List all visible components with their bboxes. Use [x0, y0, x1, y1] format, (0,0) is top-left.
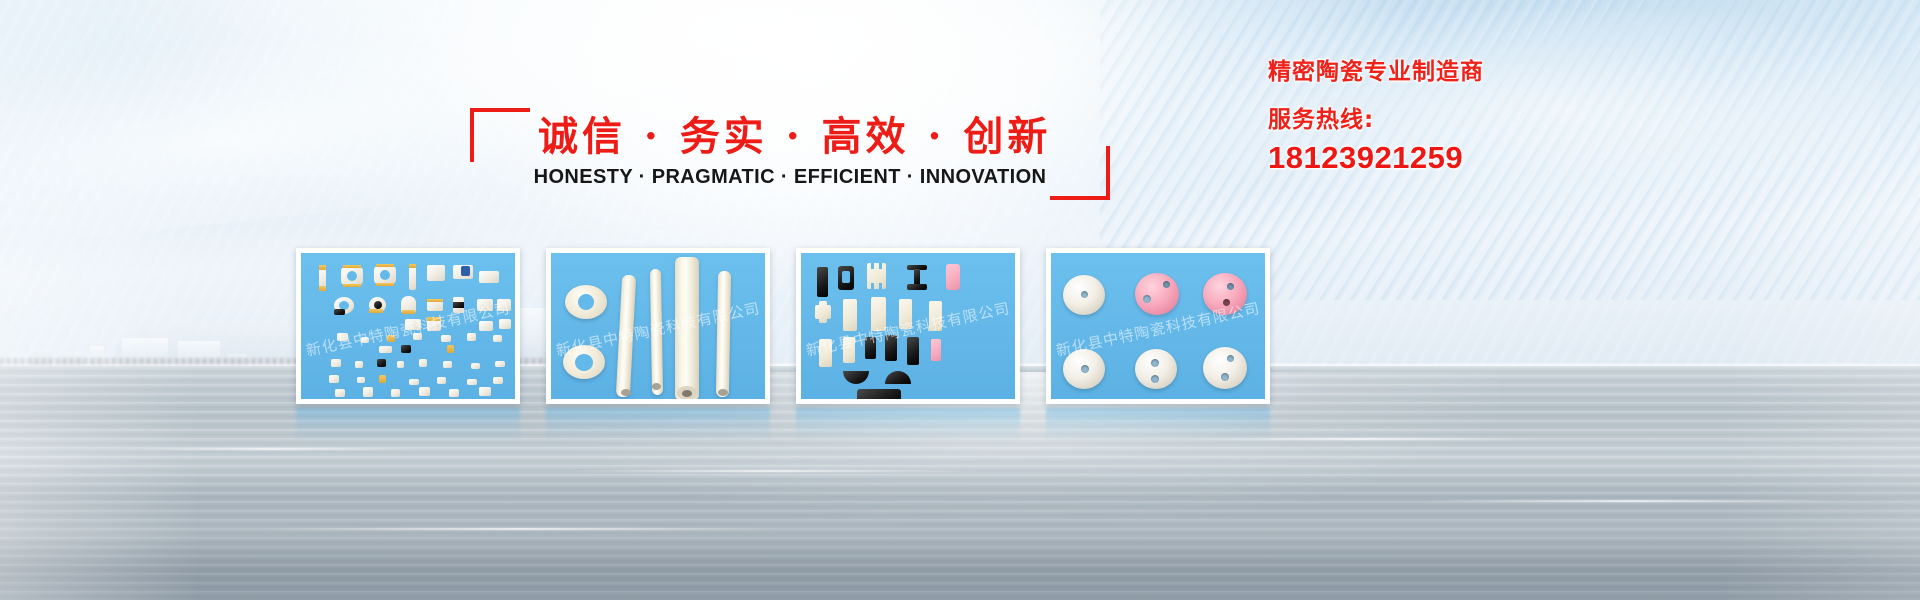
ceramic-part — [405, 319, 421, 330]
slogan-chinese: 诚信 · 务实 · 高效 · 创新 — [538, 104, 1048, 162]
ceramic-part — [355, 361, 363, 368]
ceramic-part-slot — [842, 271, 850, 283]
ceramic-part — [453, 302, 464, 308]
ceramic-part — [391, 389, 400, 397]
hero-banner: 诚信 · 务实 · 高效 · 创新 HONESTY · PRAGMATIC · … — [0, 0, 1920, 600]
contact-block: 精密陶瓷专业制造商 服务热线: 18123921259 — [1268, 52, 1598, 176]
ceramic-part-blue — [461, 266, 470, 276]
ceramic-part — [357, 377, 365, 383]
product-panel-4[interactable]: 新化县中特陶瓷科技有限公司 — [1046, 248, 1270, 404]
ceramic-part — [337, 333, 348, 341]
ceramic-part — [331, 359, 341, 367]
ceramic-part-notch — [879, 263, 882, 269]
ceramic-part — [379, 375, 386, 383]
ceramic-part — [361, 337, 369, 343]
ceramic-part-cap — [402, 310, 415, 314]
bracket-bottom-right-vertical — [1106, 146, 1110, 200]
ceramic-ring-hole — [575, 354, 593, 371]
disc-hole — [1151, 359, 1159, 367]
disc-hole — [1227, 283, 1234, 290]
panel-background: 新化县中特陶瓷科技有限公司 — [301, 253, 515, 399]
ceramic-block-black — [857, 389, 901, 404]
product-panel-group: 新化县中特陶瓷科技有限公司 新化县中特陶瓷科技有限公司 — [296, 248, 1286, 406]
product-panel-3[interactable]: 新化县中特陶瓷科技有限公司 — [796, 248, 1020, 404]
ceramic-disc-white — [1135, 349, 1177, 389]
ceramic-part-pink — [946, 264, 960, 290]
slogan-block: 诚信 · 务实 · 高效 · 创新 HONESTY · PRAGMATIC · … — [470, 108, 1110, 200]
disc-hole — [1221, 373, 1229, 381]
ceramic-part — [467, 333, 476, 341]
ceramic-disc-white — [1203, 347, 1247, 389]
ceramic-part-black — [885, 335, 897, 361]
ceramic-part — [497, 299, 511, 311]
disc-hole — [1143, 295, 1151, 303]
ceramic-part — [387, 335, 395, 342]
ceramic-part — [479, 271, 499, 283]
ceramic-part — [471, 363, 480, 369]
ceramic-tube-bore — [682, 390, 692, 397]
ceramic-disc-pink — [1135, 273, 1179, 315]
ceramic-part-cap — [409, 264, 416, 268]
panel-reflection — [296, 408, 520, 442]
product-panel-1[interactable]: 新化县中特陶瓷科技有限公司 — [296, 248, 520, 404]
ceramic-part — [467, 379, 477, 385]
ceramic-ring-hole — [374, 301, 382, 309]
ceramic-part-black — [907, 284, 927, 290]
ceramic-part — [843, 299, 857, 331]
ceramic-part-pink — [931, 339, 941, 361]
company-tagline: 精密陶瓷专业制造商 — [1268, 52, 1598, 86]
ceramic-part — [929, 301, 942, 331]
ceramic-part — [843, 337, 855, 363]
ceramic-part — [479, 321, 493, 331]
ceramic-part-black — [865, 337, 876, 359]
disc-hole — [1227, 355, 1234, 362]
ceramic-tube — [650, 269, 663, 395]
ceramic-part-window — [380, 270, 390, 280]
ceramic-tube-bore — [652, 383, 661, 390]
ceramic-part — [867, 263, 886, 289]
ceramic-part-cap — [343, 284, 361, 287]
ceramic-part-cap — [376, 264, 394, 267]
ceramic-part-notch — [879, 283, 882, 289]
ceramic-part — [329, 375, 339, 383]
water-foreground-shadow — [0, 470, 1920, 600]
ceramic-part — [363, 387, 373, 397]
ceramic-part — [871, 297, 886, 331]
ceramic-part — [477, 299, 493, 311]
disc-hole — [1163, 281, 1170, 288]
panel-reflection — [546, 408, 770, 442]
ceramic-part-cap — [319, 265, 326, 270]
panel-background: 新化县中特陶瓷科技有限公司 — [1051, 253, 1265, 399]
ceramic-ring-hole — [578, 294, 594, 310]
ceramic-part — [401, 345, 411, 353]
slogan-english: HONESTY · PRAGMATIC · EFFICIENT · INNOVA… — [530, 166, 1050, 189]
bracket-top-left-vertical — [470, 108, 474, 162]
panel-background: 新化县中特陶瓷科技有限公司 — [551, 253, 765, 399]
ceramic-tube — [616, 275, 636, 398]
ceramic-part-cap — [376, 283, 394, 286]
ceramic-part — [493, 335, 502, 342]
ceramic-part-cross — [819, 301, 827, 323]
panel-reflection — [1046, 408, 1270, 442]
water-ripple — [560, 470, 980, 472]
ceramic-tube-bore — [621, 389, 631, 396]
ceramic-part — [493, 377, 503, 384]
ceramic-part — [499, 319, 511, 329]
ceramic-part — [819, 339, 832, 367]
ceramic-part-black — [907, 337, 919, 365]
ceramic-part — [419, 359, 427, 367]
ceramic-tube-bore — [718, 389, 728, 396]
ceramic-part — [335, 389, 345, 397]
product-panel-2[interactable]: 新化县中特陶瓷科技有限公司 — [546, 248, 770, 404]
ceramic-part — [377, 359, 386, 367]
ceramic-part-notch — [871, 283, 874, 289]
ceramic-part — [441, 335, 451, 342]
ceramic-part — [899, 299, 912, 329]
disc-hole — [1081, 291, 1088, 298]
ceramic-part-cap — [427, 317, 441, 321]
panel-background: 新化县中特陶瓷科技有限公司 — [801, 253, 1015, 399]
ceramic-part — [447, 345, 454, 353]
ceramic-part-cap — [343, 265, 361, 268]
ceramic-part-black — [914, 269, 920, 285]
ceramic-disc-pink — [1203, 273, 1247, 315]
ceramic-arc-black — [885, 371, 911, 384]
disc-hole — [1151, 375, 1159, 383]
ceramic-part — [437, 377, 446, 384]
ceramic-arc-black — [843, 371, 869, 384]
disc-hole — [1081, 365, 1089, 373]
ceramic-part — [419, 387, 430, 396]
ceramic-part — [479, 387, 491, 396]
hotline-label: 服务热线: — [1268, 100, 1598, 134]
disc-hole — [1223, 299, 1230, 306]
panel-reflection — [796, 408, 1020, 442]
bracket-top-left-horizontal — [470, 108, 530, 112]
ceramic-part-notch — [871, 263, 874, 269]
ceramic-part — [413, 333, 422, 340]
ceramic-part-window — [347, 271, 357, 281]
ceramic-part — [449, 389, 459, 397]
ceramic-part-cap — [427, 299, 443, 302]
ceramic-part — [427, 265, 445, 281]
ceramic-tube — [716, 271, 731, 397]
ceramic-tube-large — [675, 257, 699, 401]
ceramic-part — [397, 361, 404, 368]
ceramic-part — [334, 309, 345, 315]
ceramic-part-cap — [319, 286, 326, 291]
ceramic-part — [443, 361, 452, 368]
water-ripple — [260, 528, 780, 530]
ceramic-part — [379, 346, 392, 353]
ceramic-part-black — [817, 267, 828, 297]
ceramic-part-cap — [369, 309, 383, 313]
water-ripple — [1420, 500, 1840, 502]
bracket-bottom-right-horizontal — [1050, 196, 1110, 200]
ceramic-part — [495, 361, 505, 367]
hotline-number[interactable]: 18123921259 — [1268, 140, 1598, 176]
water-ripple — [120, 448, 420, 450]
ceramic-part — [409, 379, 419, 385]
